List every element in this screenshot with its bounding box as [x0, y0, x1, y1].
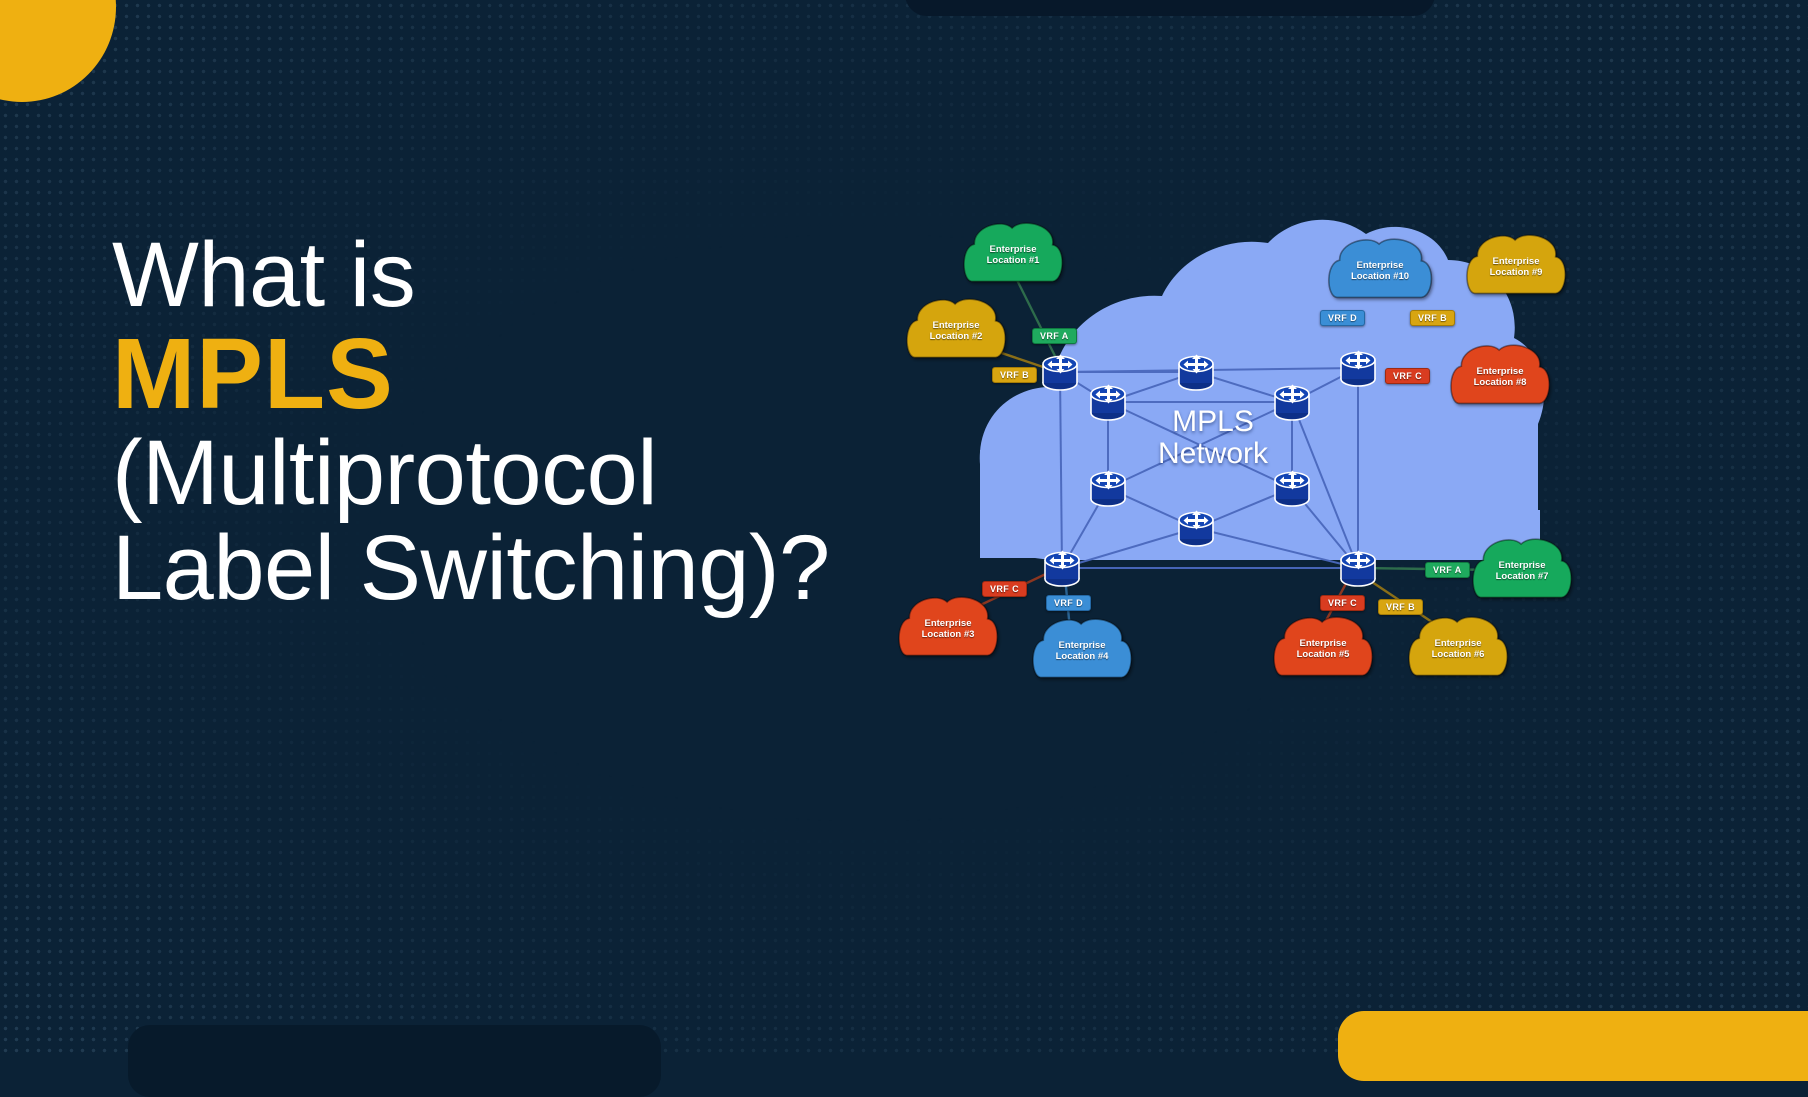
site-name-line1: Enterprise: [990, 245, 1037, 256]
enterprise-cloud-label-5: Enterprise Location #5: [1277, 619, 1369, 681]
site-name-line1: Enterprise: [1357, 261, 1404, 272]
site-name-line1: Enterprise: [1493, 257, 1540, 268]
vrf-chip-1[interactable]: VRF A: [1032, 328, 1077, 344]
site-name-line2: Location #7: [1496, 572, 1549, 583]
vrf-chip-4[interactable]: VRF D: [1046, 595, 1091, 611]
router-icon-2[interactable]: [1091, 385, 1125, 421]
enterprise-cloud-label-8: Enterprise Location #8: [1454, 347, 1546, 409]
enterprise-cloud-label-2: Enterprise Location #2: [910, 301, 1002, 363]
site-name-line1: Enterprise: [1300, 639, 1347, 650]
vrf-chip-10[interactable]: VRF D: [1320, 310, 1365, 326]
enterprise-cloud-label-3: Enterprise Location #3: [902, 599, 994, 661]
vrf-chip-8[interactable]: VRF C: [1385, 368, 1430, 384]
router-icon-10[interactable]: [1341, 551, 1375, 587]
vrf-chip-3[interactable]: VRF C: [982, 581, 1027, 597]
enterprise-cloud-label-7: Enterprise Location #7: [1476, 541, 1568, 603]
site-name-line2: Location #2: [930, 332, 983, 343]
vrf-chip-7[interactable]: VRF A: [1425, 562, 1470, 578]
site-name-line1: Enterprise: [925, 619, 972, 630]
page-title: What is MPLS (Multiprotocol Label Switch…: [112, 228, 932, 615]
site-name-line1: Enterprise: [933, 321, 980, 332]
site-name-line2: Location #9: [1490, 268, 1543, 279]
decorative-panel-bottom-left: [128, 1025, 661, 1097]
site-name-line2: Location #4: [1056, 652, 1109, 663]
enterprise-cloud-label-10: Enterprise Location #10: [1332, 241, 1428, 303]
site-name-line2: Location #6: [1432, 650, 1485, 661]
vrf-chip-5[interactable]: VRF C: [1320, 595, 1365, 611]
site-name-line2: Location #1: [987, 256, 1040, 267]
site-name-line1: Enterprise: [1477, 367, 1524, 378]
enterprise-cloud-label-1: Enterprise Location #1: [967, 225, 1059, 287]
site-name-line2: Location #5: [1297, 650, 1350, 661]
title-line-4: Label Switching)?: [112, 521, 932, 616]
mpls-network-diagram: MPLS Network Enterprise Location #1 Ente…: [880, 210, 1580, 680]
enterprise-cloud-label-6: Enterprise Location #6: [1412, 619, 1504, 681]
vrf-chip-9[interactable]: VRF B: [1410, 310, 1455, 326]
enterprise-cloud-label-4: Enterprise Location #4: [1036, 621, 1128, 683]
router-icon-7[interactable]: [1179, 511, 1213, 547]
site-name-line2: Location #10: [1351, 272, 1409, 283]
router-icon-9[interactable]: [1341, 351, 1375, 387]
enterprise-cloud-label-9: Enterprise Location #9: [1470, 237, 1562, 299]
decorative-circle-top-left: [0, 0, 116, 102]
router-icon-6[interactable]: [1275, 471, 1309, 507]
title-line-2-mpls: MPLS: [112, 323, 932, 426]
site-name-line2: Location #8: [1474, 378, 1527, 389]
site-name-line1: Enterprise: [1435, 639, 1482, 650]
site-name-line2: Location #3: [922, 630, 975, 641]
vrf-chip-2[interactable]: VRF B: [992, 367, 1037, 383]
router-icon-1[interactable]: [1043, 355, 1077, 391]
router-icon-4[interactable]: [1275, 385, 1309, 421]
site-name-line1: Enterprise: [1059, 641, 1106, 652]
decorative-bar-bottom-right: [1338, 1011, 1808, 1081]
vrf-chip-6[interactable]: VRF B: [1378, 599, 1423, 615]
title-line-1: What is: [112, 228, 932, 323]
router-icon-8[interactable]: [1045, 551, 1079, 587]
router-icon-3[interactable]: [1179, 355, 1213, 391]
decorative-panel-top: [905, 0, 1435, 16]
router-icon-5[interactable]: [1091, 471, 1125, 507]
title-line-3: (Multiprotocol: [112, 426, 932, 521]
site-name-line1: Enterprise: [1499, 561, 1546, 572]
